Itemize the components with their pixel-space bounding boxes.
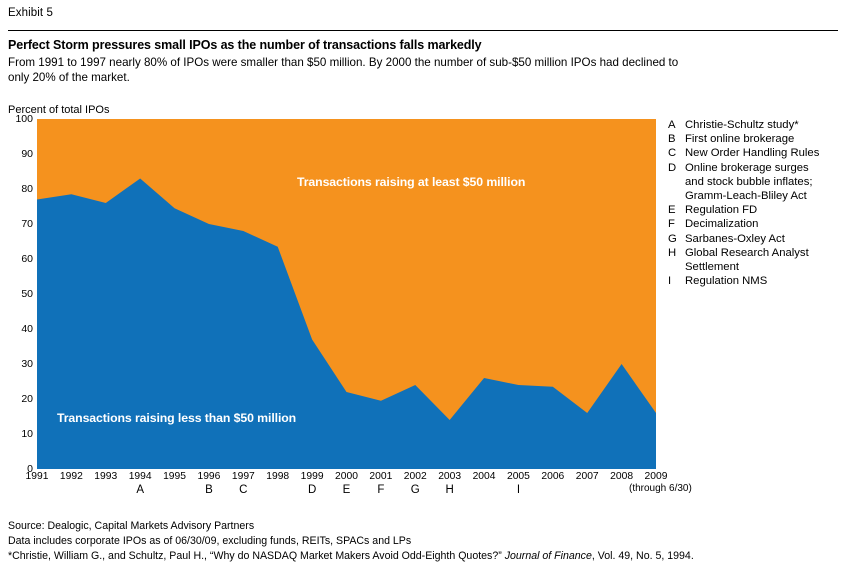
series-label-below-50m: Transactions raising less than $50 milli… bbox=[57, 411, 296, 425]
exhibit-label: Exhibit 5 bbox=[8, 7, 53, 19]
legend-label: First online brokerage bbox=[685, 132, 846, 146]
legend-label: Regulation FD bbox=[685, 203, 846, 217]
legend-label: New Order Handling Rules bbox=[685, 146, 846, 160]
y-axis-tick-label: 20 bbox=[0, 392, 33, 406]
y-axis-tick-label: 100 bbox=[0, 112, 33, 126]
event-marker-c: C bbox=[220, 483, 266, 498]
page-title: Perfect Storm pressures small IPOs as th… bbox=[8, 38, 708, 52]
x-axis: 1991199219931994A19951996B1997C19981999D… bbox=[37, 471, 656, 517]
footer-footnote: *Christie, William G., and Schultz, Paul… bbox=[8, 549, 838, 564]
legend-key: D bbox=[668, 161, 685, 175]
x-axis-period-note: (through 6/30) bbox=[629, 483, 679, 495]
footnote-post: , Vol. 49, No. 5, 1994. bbox=[592, 550, 694, 562]
x-axis-tick: 2009(through 6/30) bbox=[633, 471, 679, 495]
legend-item-f: FDecimalization bbox=[668, 217, 846, 231]
legend-key: H bbox=[668, 246, 685, 260]
legend-label: Sarbanes-Oxley Act bbox=[685, 232, 846, 246]
y-axis-tick-label: 90 bbox=[0, 147, 33, 161]
legend-label-continuation: Gramm-Leach-Bliley Act bbox=[685, 189, 846, 203]
legend-label: Christie-Schultz study* bbox=[685, 118, 846, 132]
event-legend: AChristie-Schultz study*BFirst online br… bbox=[668, 118, 846, 288]
legend-item-c: CNew Order Handling Rules bbox=[668, 146, 846, 160]
legend-key: B bbox=[668, 132, 685, 146]
y-axis-tick-label: 10 bbox=[0, 427, 33, 441]
y-axis-tick-label: 80 bbox=[0, 182, 33, 196]
y-axis-tick-label: 70 bbox=[0, 217, 33, 231]
legend-label: Decimalization bbox=[685, 217, 846, 231]
legend-key: I bbox=[668, 274, 685, 288]
legend-item-e: ERegulation FD bbox=[668, 203, 846, 217]
footer-notes: Source: Dealogic, Capital Markets Adviso… bbox=[8, 519, 838, 565]
event-marker-a: A bbox=[117, 483, 163, 498]
y-axis-tick-label: 40 bbox=[0, 322, 33, 336]
legend-item-g: GSarbanes-Oxley Act bbox=[668, 232, 846, 246]
legend-label: Online brokerage surges bbox=[685, 161, 846, 175]
event-marker-h: H bbox=[427, 483, 473, 498]
legend-item-a: AChristie-Schultz study* bbox=[668, 118, 846, 132]
y-axis-tick-label: 30 bbox=[0, 357, 33, 371]
legend-item-h: HGlobal Research Analyst bbox=[668, 246, 846, 260]
legend-label-continuation: and stock bubble inflates; bbox=[685, 175, 846, 189]
legend-item-d: DOnline brokerage surges bbox=[668, 161, 846, 175]
legend-item-b: BFirst online brokerage bbox=[668, 132, 846, 146]
legend-key: G bbox=[668, 232, 685, 246]
legend-key: C bbox=[668, 146, 685, 160]
footer-source: Source: Dealogic, Capital Markets Adviso… bbox=[8, 519, 838, 534]
legend-key: F bbox=[668, 217, 685, 231]
legend-label: Global Research Analyst bbox=[685, 246, 846, 260]
header-divider bbox=[8, 30, 838, 31]
legend-label-continuation: Settlement bbox=[685, 260, 846, 274]
event-marker-i: I bbox=[495, 483, 541, 498]
footer-data-note: Data includes corporate IPOs as of 06/30… bbox=[8, 534, 838, 549]
footnote-pre: *Christie, William G., and Schultz, Paul… bbox=[8, 550, 505, 562]
footnote-journal: Journal of Finance bbox=[505, 550, 592, 562]
y-axis-ticks: 0102030405060708090100 bbox=[0, 112, 33, 476]
page-subtitle: From 1991 to 1997 nearly 80% of IPOs wer… bbox=[8, 56, 698, 85]
series-label-above-50m: Transactions raising at least $50 millio… bbox=[297, 175, 525, 189]
y-axis-tick-label: 50 bbox=[0, 287, 33, 301]
legend-key: E bbox=[668, 203, 685, 217]
legend-item-i: IRegulation NMS bbox=[668, 274, 846, 288]
y-axis-tick-label: 60 bbox=[0, 252, 33, 266]
legend-label: Regulation NMS bbox=[685, 274, 846, 288]
x-axis-year-label: 2009 bbox=[633, 471, 679, 483]
legend-key: A bbox=[668, 118, 685, 132]
